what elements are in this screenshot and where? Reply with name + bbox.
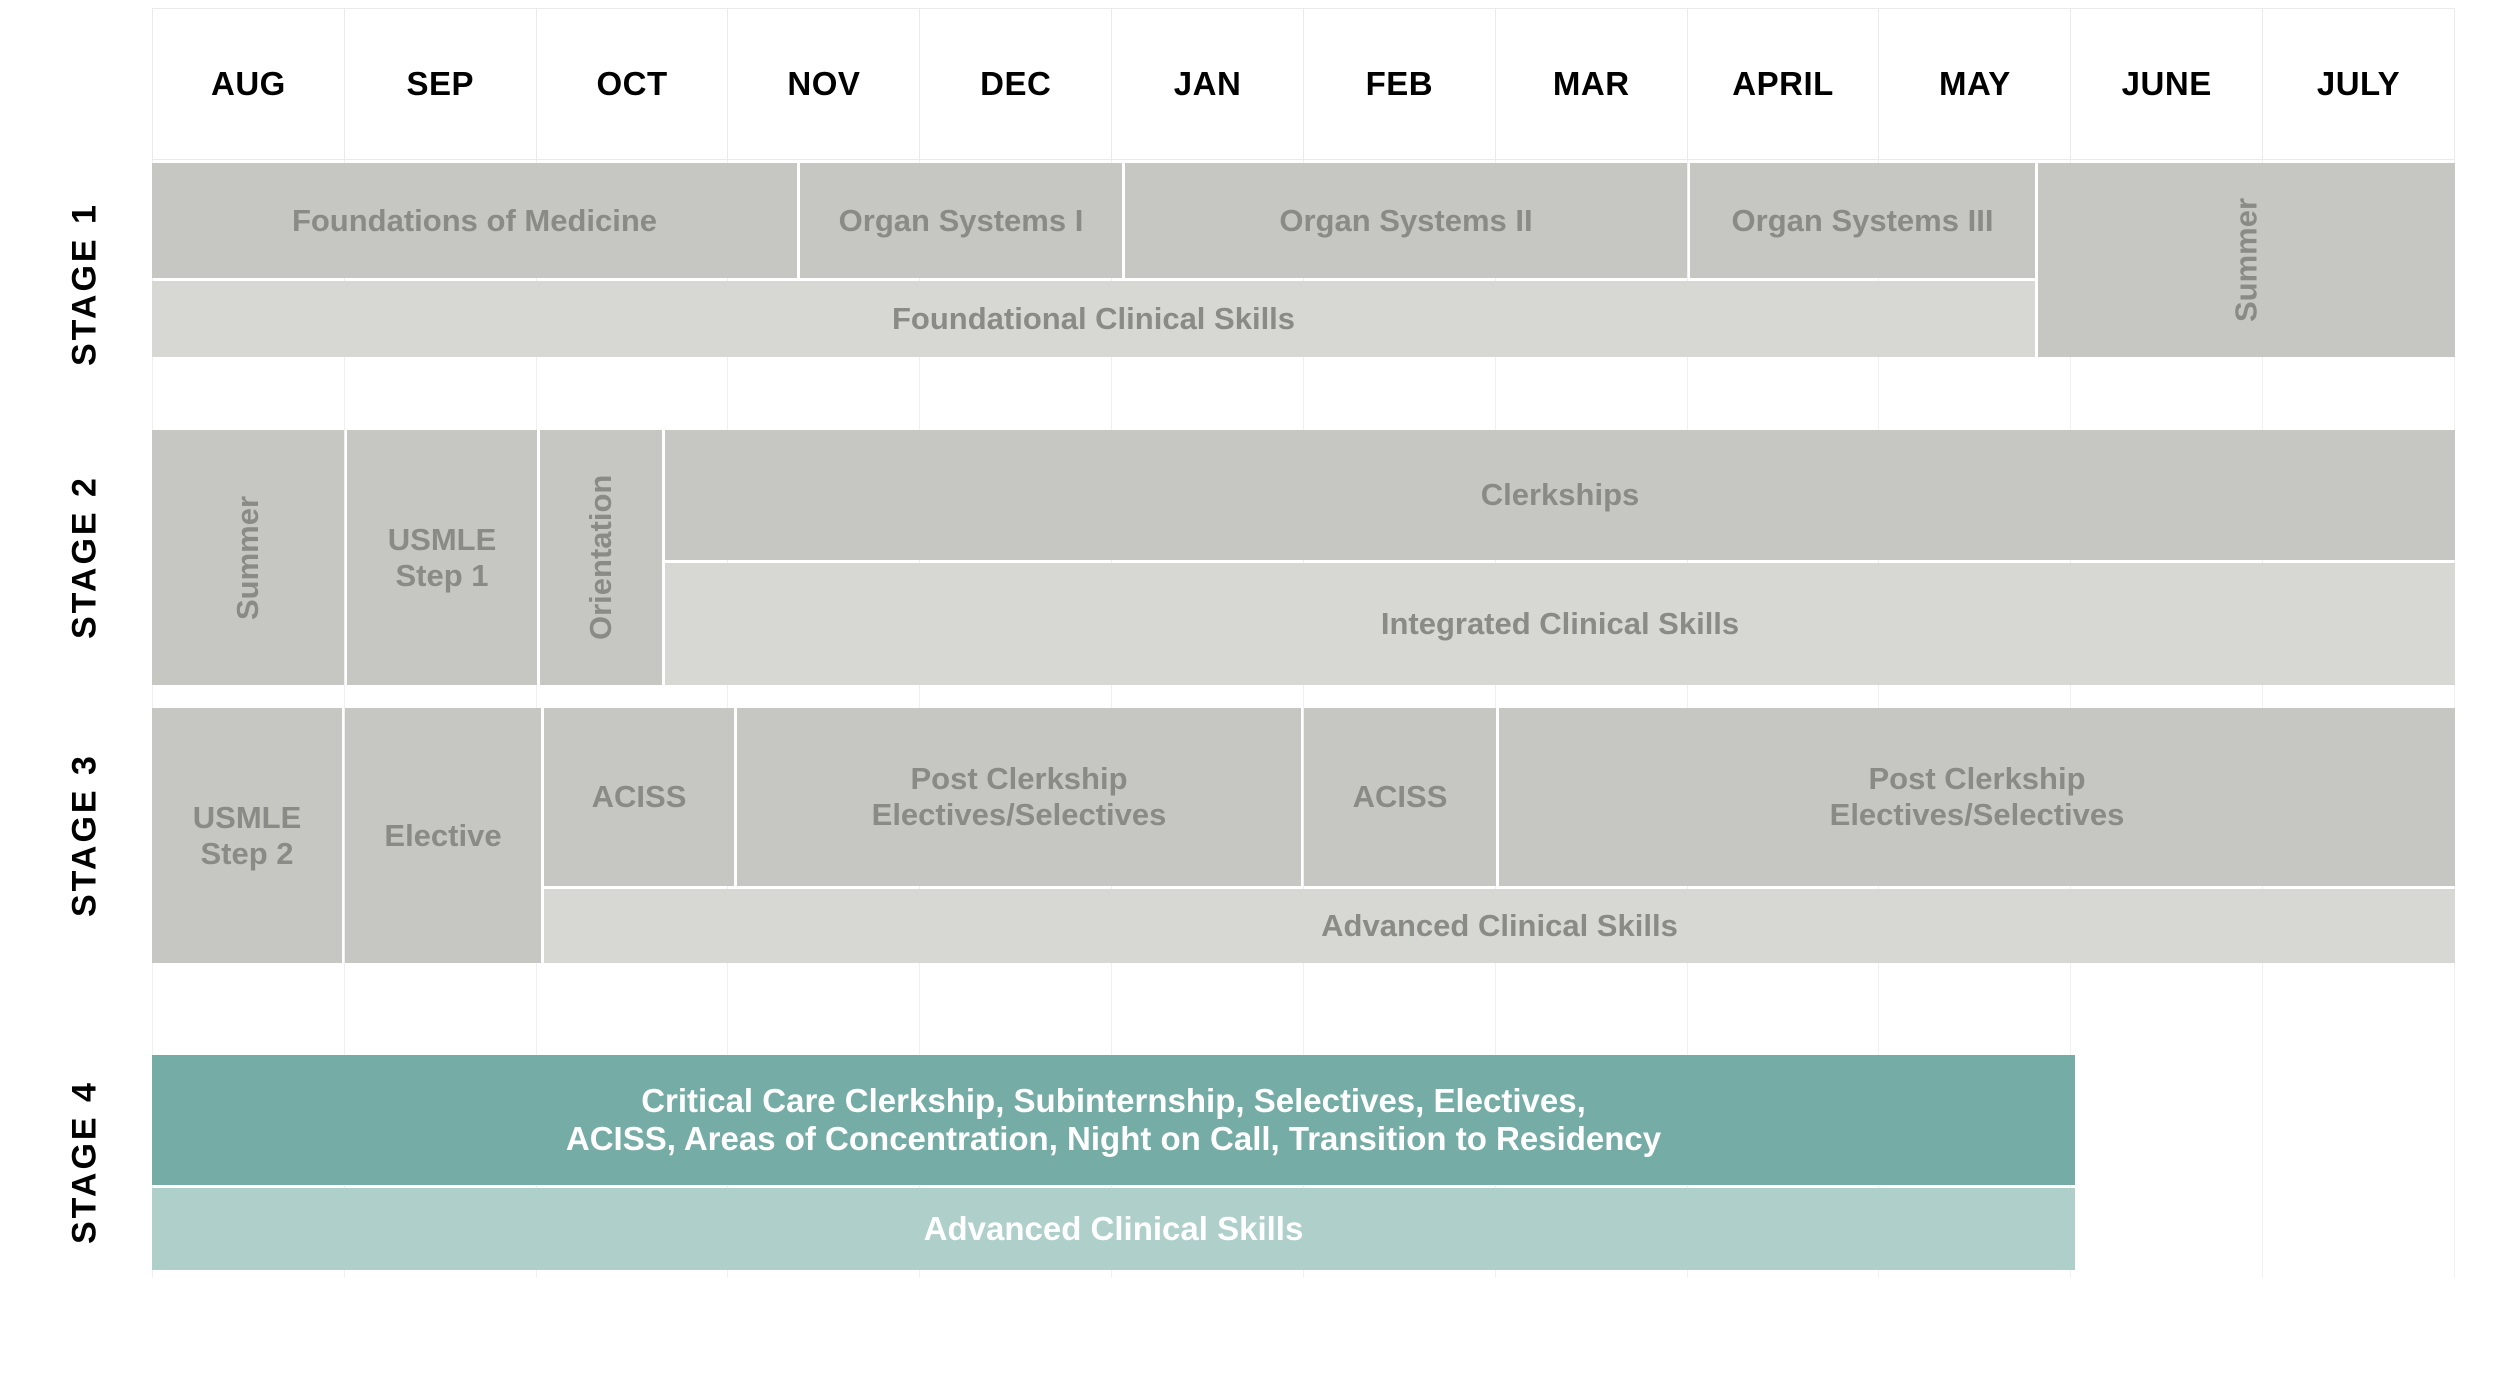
stage-2-row: STAGE 2 Summer USMLE Step 1 Orientation …: [0, 430, 2520, 685]
stage-2-label: STAGE 2: [30, 430, 140, 685]
block-post-clerkship-electives-selectives-2[interactable]: Post Clerkship Electives/Selectives: [1499, 708, 2455, 886]
block-organ-systems-1[interactable]: Organ Systems I: [800, 163, 1122, 278]
block-foundational-clinical-skills[interactable]: Foundational Clinical Skills: [152, 281, 2035, 357]
block-organ-systems-2[interactable]: Organ Systems II: [1125, 163, 1687, 278]
block-aciss-2[interactable]: ACISS: [1304, 708, 1496, 886]
stage-3-track: USMLE Step 2 Elective ACISS Post Clerksh…: [152, 708, 2455, 963]
stage-3-row: STAGE 3 USMLE Step 2 Elective ACISS Post…: [0, 708, 2520, 963]
block-post-clerkship-electives-selectives-1[interactable]: Post Clerkship Electives/Selectives: [737, 708, 1301, 886]
month-header-april: APRIL: [1687, 8, 1879, 160]
block-aciss-1[interactable]: ACISS: [544, 708, 734, 886]
stage-4-track: Critical Care Clerkship, Subinternship, …: [152, 1055, 2455, 1270]
stage-4-label: STAGE 4: [30, 1055, 140, 1270]
block-stage4-clinical-experiences[interactable]: Critical Care Clerkship, Subinternship, …: [152, 1055, 2075, 1185]
block-advanced-clinical-skills-stage4[interactable]: Advanced Clinical Skills: [152, 1188, 2075, 1270]
month-header-dec: DEC: [919, 8, 1111, 160]
month-header-sep: SEP: [344, 8, 536, 160]
block-summer-stage2[interactable]: Summer: [152, 430, 344, 685]
block-integrated-clinical-skills[interactable]: Integrated Clinical Skills: [665, 563, 2455, 685]
curriculum-timeline: AUG SEP OCT NOV DEC JAN FEB MAR APRIL MA…: [0, 0, 2520, 1400]
stage-1-track: Foundations of Medicine Organ Systems I …: [152, 163, 2455, 405]
month-header-july: JULY: [2262, 8, 2455, 160]
month-header-may: MAY: [1878, 8, 2070, 160]
month-header-mar: MAR: [1495, 8, 1687, 160]
block-summer-stage1[interactable]: Summer: [2038, 163, 2455, 357]
month-header-oct: OCT: [536, 8, 728, 160]
month-header-june: JUNE: [2070, 8, 2262, 160]
block-usmle-step-1[interactable]: USMLE Step 1: [347, 430, 537, 685]
stage-1-label: STAGE 1: [30, 163, 140, 405]
stage-1-row: STAGE 1 Foundations of Medicine Organ Sy…: [0, 163, 2520, 405]
stage-2-track: Summer USMLE Step 1 Orientation Clerkshi…: [152, 430, 2455, 685]
month-header-row: AUG SEP OCT NOV DEC JAN FEB MAR APRIL MA…: [152, 8, 2455, 160]
block-organ-systems-3[interactable]: Organ Systems III: [1690, 163, 2035, 278]
month-header-feb: FEB: [1303, 8, 1495, 160]
stage-4-row: STAGE 4 Critical Care Clerkship, Subinte…: [0, 1055, 2520, 1270]
block-clerkships[interactable]: Clerkships: [665, 430, 2455, 560]
stage-3-label: STAGE 3: [30, 708, 140, 963]
block-elective[interactable]: Elective: [345, 708, 541, 963]
block-advanced-clinical-skills-stage3[interactable]: Advanced Clinical Skills: [544, 889, 2455, 963]
block-orientation[interactable]: Orientation: [540, 430, 662, 685]
month-header-jan: JAN: [1111, 8, 1303, 160]
month-header-aug: AUG: [152, 8, 344, 160]
block-usmle-step-2[interactable]: USMLE Step 2: [152, 708, 342, 963]
month-header-nov: NOV: [727, 8, 919, 160]
block-foundations-of-medicine[interactable]: Foundations of Medicine: [152, 163, 797, 278]
